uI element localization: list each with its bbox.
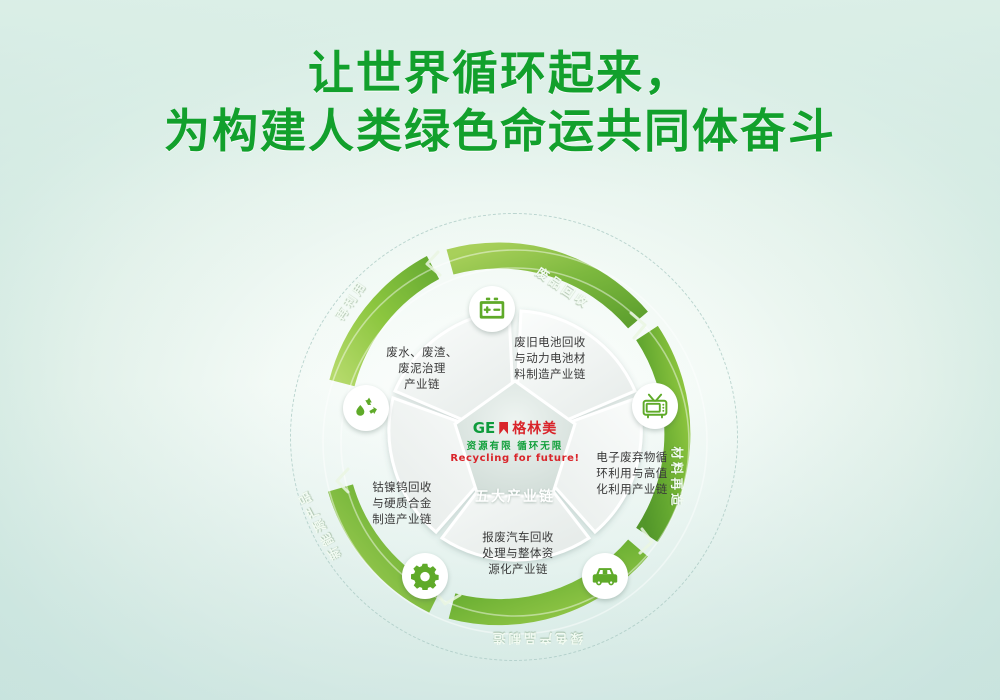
tv-icon: [641, 392, 669, 420]
sector-label-battery: 废旧电池回收 与动力电池材 料制造产业链: [500, 335, 600, 383]
sector-icon-battery[interactable]: [469, 286, 515, 332]
sector-label-e-waste: 电子废弃物循 环利用与高值 化利用产业链: [582, 450, 682, 498]
logo-slogan-en: Recycling for future!: [445, 453, 585, 464]
car-icon: [591, 562, 619, 590]
sector-icon-cobalt[interactable]: [402, 553, 448, 599]
battery-icon: [478, 295, 506, 323]
sector-icon-vehicle[interactable]: [582, 553, 628, 599]
logo-gem-text: GE: [473, 420, 496, 436]
gear-icon: [411, 562, 439, 590]
sector-icon-e-waste[interactable]: [632, 383, 678, 429]
center-caption: 五大产业链: [445, 486, 585, 506]
sector-label-vehicle: 报废汽车回收 处理与整体资 源化产业链: [468, 530, 568, 578]
sector-label-waste-water: 废水、废渣、 废泥治理 产业链: [368, 345, 476, 393]
logo-brand-cn: 格林美: [512, 420, 557, 436]
page-title: 让世界循环起来， 为构建人类绿色命运共同体奋斗: [0, 44, 1000, 160]
logo-m-mark: [499, 422, 508, 435]
logo-slogan-cn: 资源有限 循环无限: [445, 438, 585, 452]
logo-wordmark-row: GE 格林美: [445, 420, 585, 436]
water-recycle-icon: [352, 394, 380, 422]
ring-label-material-remanufacture: 材料再造: [669, 447, 688, 509]
sector-label-cobalt: 钴镍钨回收 与硬质合金 制造产业链: [352, 480, 452, 528]
center-brand-logo: GE 格林美 资源有限 循环无限 Recycling for future! 五…: [445, 420, 585, 515]
industry-chain-diagram: 废旧电池回收 与动力电池材 料制造产业链 电子废弃物循 环利用与高值 化利用产业…: [290, 205, 740, 675]
ring-label-green-product: 绿色产品制造: [490, 630, 583, 649]
